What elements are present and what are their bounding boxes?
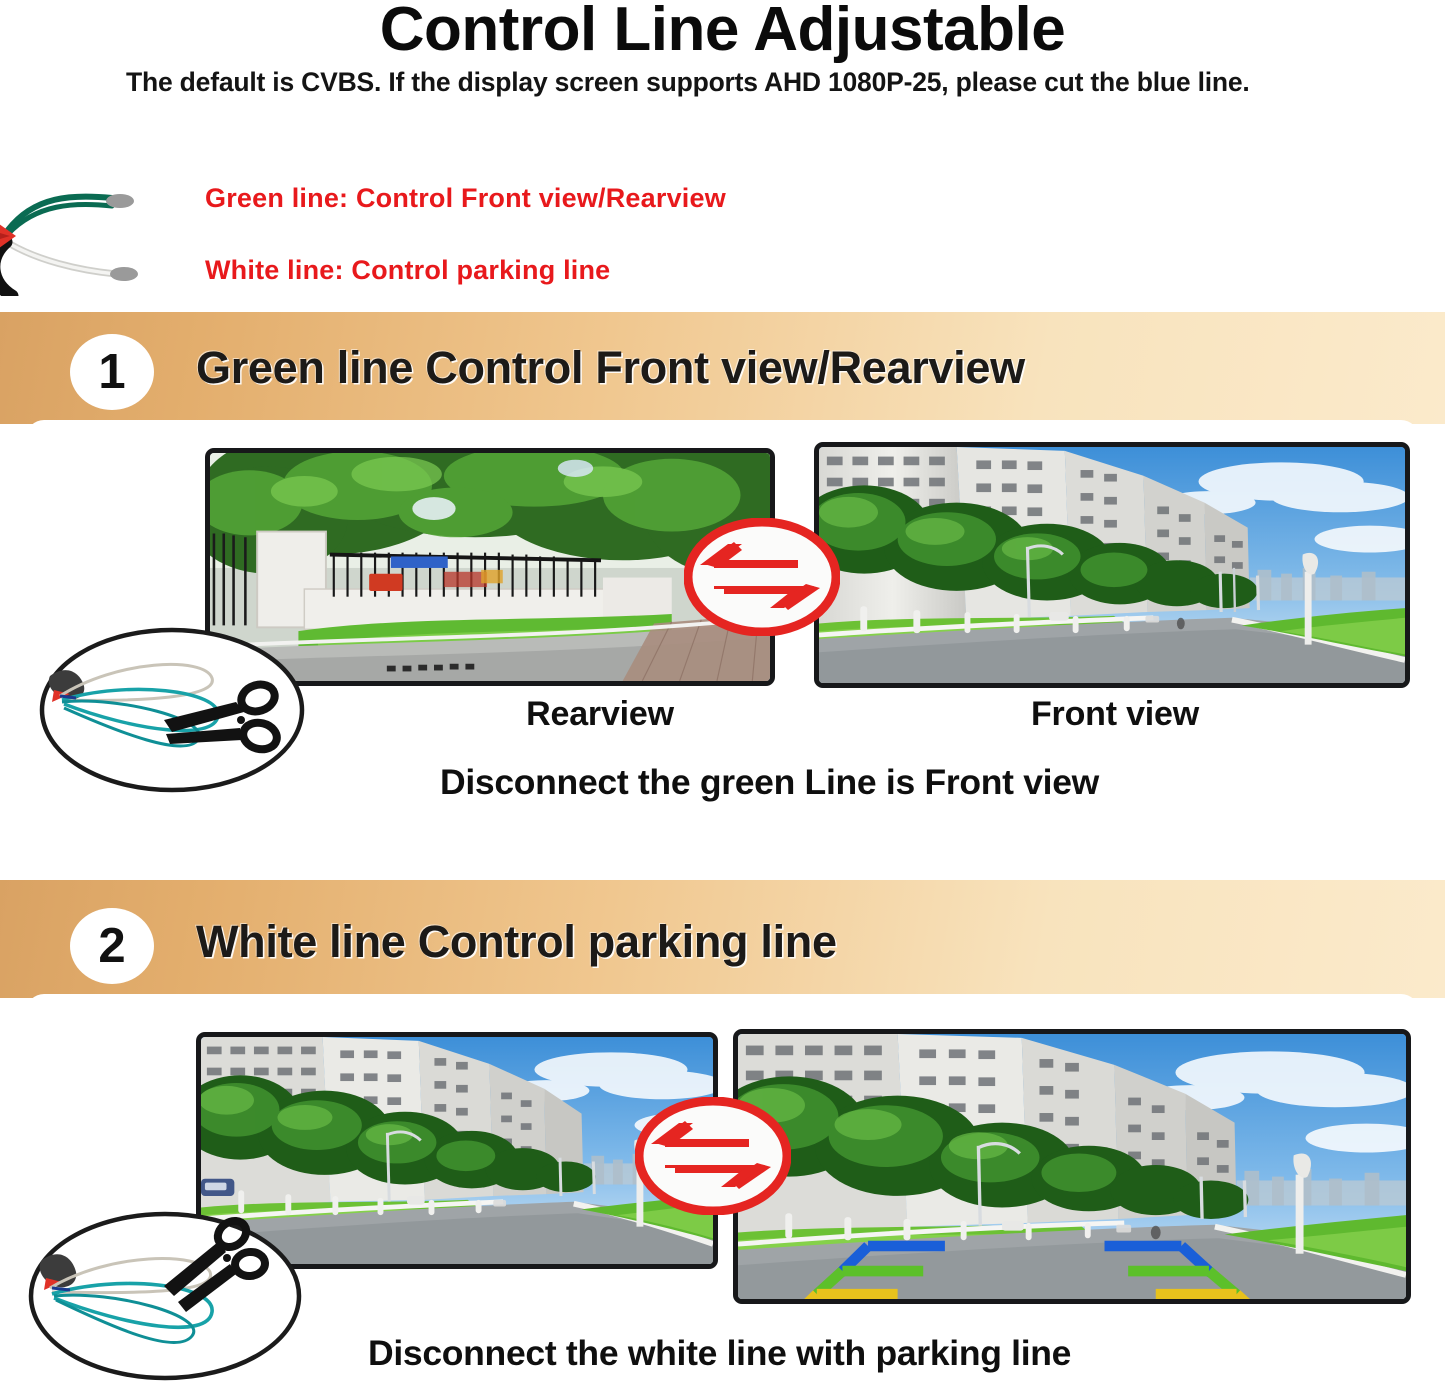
front-view-photo[interactable] — [814, 442, 1410, 688]
page-title: Control Line Adjustable — [0, 0, 1445, 65]
section-1-number-badge: 1 — [70, 334, 154, 410]
section-1-title: Green line Control Front view/Rearview — [196, 342, 1025, 394]
swap-arrows-icon — [635, 1097, 791, 1215]
swap-arrows-icon — [684, 518, 840, 636]
section-2-caption: Disconnect the white line with parking l… — [368, 1333, 1071, 1374]
legend-green-line: Green line: Control Front view/Rearview — [205, 183, 726, 214]
section-1-caption: Disconnect the green Line is Front view — [440, 762, 1099, 803]
front-view-label: Front view — [900, 695, 1330, 734]
page-subtitle: The default is CVBS. If the display scre… — [126, 66, 1376, 98]
cut-wires-inset-1 — [36, 624, 308, 796]
infographic-page: Control Line Adjustable The default is C… — [0, 0, 1445, 1382]
wire-harness-illustration — [0, 186, 184, 296]
cut-wires-inset-2 — [24, 1208, 306, 1382]
section-2-number-badge: 2 — [70, 908, 154, 984]
legend-white-line: White line: Control parking line — [205, 255, 610, 286]
rearview-label: Rearview — [400, 695, 800, 734]
parking-line-photo[interactable] — [733, 1029, 1411, 1304]
section-2-title: White line Control parking line — [196, 916, 837, 968]
